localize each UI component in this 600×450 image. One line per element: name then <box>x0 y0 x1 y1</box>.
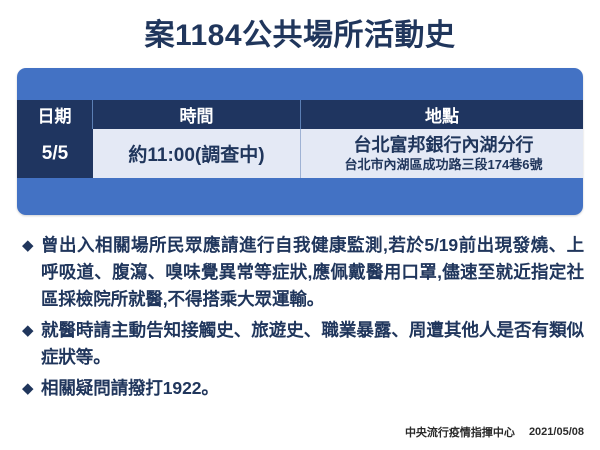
diamond-bullet-icon: ◆ <box>22 232 41 259</box>
note-text: 曾出入相關場所民眾應請進行自我健康監測,若於5/19前出現發燒、上呼吸道、腹瀉、… <box>41 232 584 313</box>
activity-history-table: 日期 時間 地點 5/5 約11:00(調查中) 台北富邦銀行內湖分行 台北市內… <box>17 68 583 215</box>
column-header-date: 日期 <box>17 100 93 129</box>
footer: 中央流行疫情指揮中心 2021/05/08 <box>405 424 584 440</box>
list-item: ◆ 就醫時請主動告知接觸史、旅遊史、職業暴露、周遭其他人是否有類似症狀等。 <box>22 317 584 371</box>
column-header-location: 地點 <box>301 100 583 129</box>
cell-location: 台北富邦銀行內湖分行 台北市內湖區成功路三段174巷6號 <box>301 129 583 178</box>
list-item: ◆ 相關疑問請撥打1922。 <box>22 375 584 402</box>
table-header-row: 日期 時間 地點 <box>17 100 583 129</box>
cell-time: 約11:00(調查中) <box>93 129 301 178</box>
cell-date: 5/5 <box>17 129 93 178</box>
footer-date: 2021/05/08 <box>529 426 584 438</box>
table-row: 5/5 約11:00(調查中) 台北富邦銀行內湖分行 台北市內湖區成功路三段17… <box>17 129 583 178</box>
location-name: 台北富邦銀行內湖分行 <box>354 134 534 156</box>
footer-agency: 中央流行疫情指揮中心 <box>405 424 515 440</box>
page-title: 案1184公共場所活動史 <box>0 16 600 56</box>
note-text: 相關疑問請撥打1922。 <box>41 375 584 402</box>
diamond-bullet-icon: ◆ <box>22 375 41 402</box>
location-address: 台北市內湖區成功路三段174巷6號 <box>345 156 543 173</box>
note-text: 就醫時請主動告知接觸史、旅遊史、職業暴露、周遭其他人是否有類似症狀等。 <box>41 317 584 371</box>
list-item: ◆ 曾出入相關場所民眾應請進行自我健康監測,若於5/19前出現發燒、上呼吸道、腹… <box>22 232 584 313</box>
column-header-time: 時間 <box>93 100 301 129</box>
diamond-bullet-icon: ◆ <box>22 317 41 344</box>
notes-list: ◆ 曾出入相關場所民眾應請進行自我健康監測,若於5/19前出現發燒、上呼吸道、腹… <box>22 232 584 406</box>
table-body-wrapper: 日期 時間 地點 5/5 約11:00(調查中) 台北富邦銀行內湖分行 台北市內… <box>17 100 583 178</box>
